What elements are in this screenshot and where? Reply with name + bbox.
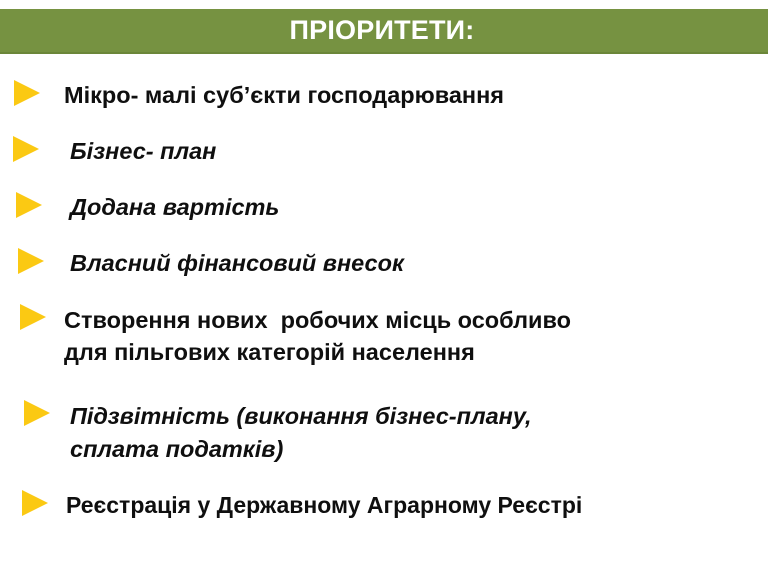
- triangle-right-icon: [24, 400, 54, 426]
- page-title: ПРІОРИТЕТИ:: [290, 17, 475, 44]
- list-item: Додана вартість: [0, 192, 768, 222]
- title-bar: ПРІОРИТЕТИ:: [0, 9, 768, 54]
- triangle-right-icon: [16, 192, 46, 218]
- list-item: Реєстрація у Державному Аграрному Реєстр…: [0, 490, 768, 520]
- list-item: Підзвітність (виконання бізнес-плану, сп…: [0, 400, 768, 466]
- list-item-label: Створення нових робочих місць особливо д…: [64, 304, 768, 368]
- list-item: Створення нових робочих місць особливо д…: [0, 304, 768, 368]
- triangle-right-icon: [14, 80, 44, 106]
- list-item-label: Мікро- малі суб’єкти господарювання: [64, 80, 768, 110]
- priorities-list: Мікро- малі суб’єкти господарювання Бізн…: [0, 54, 768, 576]
- triangle-right-icon: [18, 248, 48, 274]
- list-item-label: Підзвітність (виконання бізнес-плану, сп…: [70, 400, 768, 466]
- list-item-label: Реєстрація у Державному Аграрному Реєстр…: [66, 490, 768, 520]
- list-item: Бізнес- план: [0, 136, 768, 166]
- list-item-label: Додана вартість: [70, 192, 768, 222]
- slide-root: ПРІОРИТЕТИ: Мікро- малі суб’єкти господа…: [0, 0, 768, 576]
- triangle-right-icon: [13, 136, 43, 162]
- list-item-label: Власний фінансовий внесок: [70, 248, 768, 278]
- list-item: Мікро- малі суб’єкти господарювання: [0, 80, 768, 110]
- list-item-label: Бізнес- план: [70, 136, 768, 166]
- triangle-right-icon: [20, 304, 50, 330]
- triangle-right-icon: [22, 490, 52, 516]
- list-item: Власний фінансовий внесок: [0, 248, 768, 278]
